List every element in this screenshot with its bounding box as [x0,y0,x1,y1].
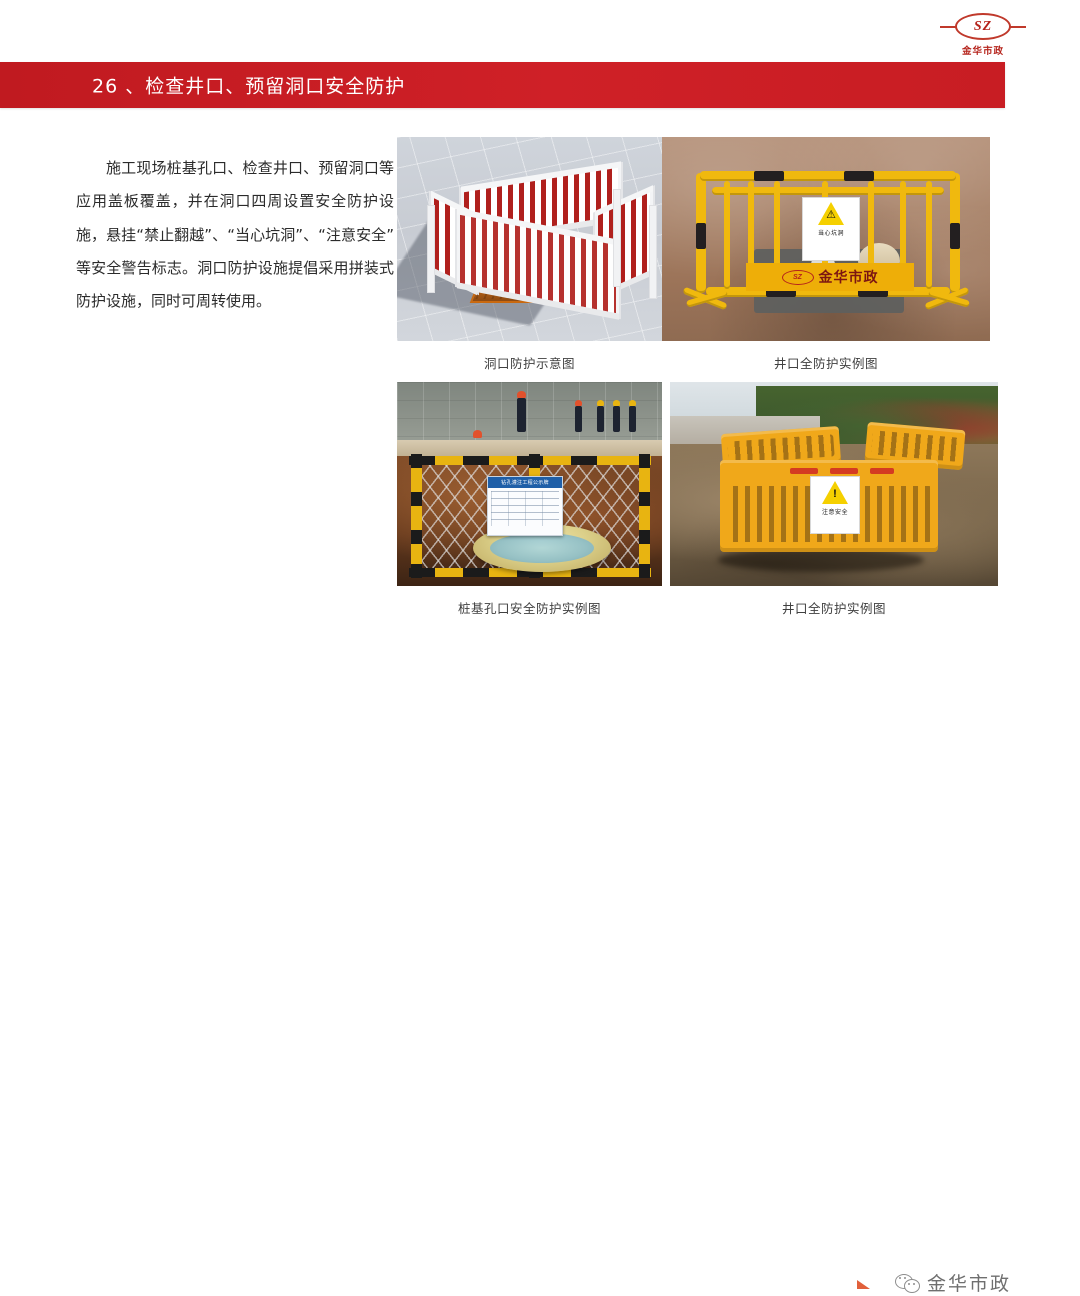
barrier-stripe [950,223,960,249]
figure-row-2: 钻孔灌注工程公示牌 桩基孔口安全防护实例图 [397,382,998,619]
warning-sign-label: 注意安全 [822,507,848,516]
barrier-stripe [754,171,784,181]
figure-image-pile-hole-guard: 钻孔灌注工程公示牌 [397,382,662,586]
info-board-title: 钻孔灌注工程公示牌 [488,477,562,488]
logo-mark: SZ [940,14,1026,40]
barrier-picket [724,181,730,289]
warning-sign-beware-pit: ⚠ 当心坑洞 [802,197,860,261]
company-board: SZ 金华市政 [746,263,914,291]
rail-post-2 [613,189,621,287]
barrier-picket [926,181,932,289]
helmet-icon [629,400,636,406]
factory-wall [397,382,662,448]
figure-caption: 桩基孔口安全防护实例图 [397,586,662,619]
reflector-strip [790,468,818,474]
board-company-name: 金华市政 [819,267,879,287]
warning-symbol: ! [833,489,837,500]
page-footer: 金华市政 [0,632,1080,694]
logo-company-name: 金华市政 [962,43,1004,57]
figure-manhole-full-guard[interactable]: ⚠ 当心坑洞 SZ 金华市政 井口全防护实例图 [662,137,990,374]
wechat-icon [895,1273,921,1293]
helmet-icon [575,400,582,406]
helmet-icon [597,400,604,406]
company-logo: SZ 金华市政 [928,12,1038,58]
footer-triangle-icon [857,1280,870,1289]
footer-wechat-brand: 金华市政 [895,1269,1011,1296]
barrier-mid-rail [712,187,944,195]
fence-post-left [411,454,422,574]
worker-figure [613,406,620,432]
barrier-stripe [696,223,706,249]
warning-sign-safety: ! 注意安全 [810,476,860,534]
figure-manhole-full-guard-2[interactable]: ! 注意安全 井口全防护实例图 [670,382,998,619]
helmet-icon [613,400,620,406]
body-paragraph: 施工现场桩基孔口、检查井口、预留洞口等应用盖板覆盖，并在洞口四周设置安全防护设施… [76,152,394,318]
fence-post-right [639,454,650,574]
barrier-stripe [844,171,874,181]
guard-rail-assembly [425,161,630,311]
logo-initials: SZ [955,13,1011,40]
figure-row-1: 洞口防护示意图 [397,137,998,374]
figure-caption: 井口全防护实例图 [670,586,998,619]
reflector-strip [830,468,858,474]
helmet-icon [517,391,526,398]
worker-figure [629,406,636,432]
figure-pile-hole-guard[interactable]: 钻孔灌注工程公示牌 桩基孔口安全防护实例图 [397,382,662,619]
warning-symbol: ⚠ [826,210,836,221]
rail-post-1 [427,205,435,293]
reflector-strip [870,468,894,474]
figure-caption: 洞口防护示意图 [397,341,662,374]
figure-image-hole-guard-diagram [397,137,662,341]
worker-figure [597,406,604,432]
rail-post-3 [649,205,657,299]
figure-image-manhole-full-guard-2: ! 注意安全 [670,382,998,586]
board-logo-icon: SZ [782,270,814,285]
worker-figure [517,398,526,432]
figure-hole-guard-diagram[interactable]: 洞口防护示意图 [397,137,662,374]
figure-grid: 洞口防护示意图 [397,137,998,619]
figure-image-manhole-full-guard: ⚠ 当心坑洞 SZ 金华市政 [662,137,990,341]
site-info-board: 钻孔灌注工程公示牌 [487,476,563,536]
warning-sign-label: 当心坑洞 [818,228,844,237]
barrier-top-rail [700,171,956,181]
figure-caption: 井口全防护实例图 [662,341,990,374]
info-board-footer [488,529,562,534]
helmet-icon [473,430,482,438]
footer-brand-name: 金华市政 [927,1269,1011,1296]
page-title: 26 、检查井口、预留洞口安全防护 [92,72,405,99]
slide-root: SZ 金华市政 26 、检查井口、预留洞口安全防护 施工现场桩基孔口、检查井口、… [0,0,1080,694]
info-board-rows [491,491,559,526]
worker-figure [575,406,582,432]
section-banner: 26 、检查井口、预留洞口安全防护 [0,62,1005,108]
